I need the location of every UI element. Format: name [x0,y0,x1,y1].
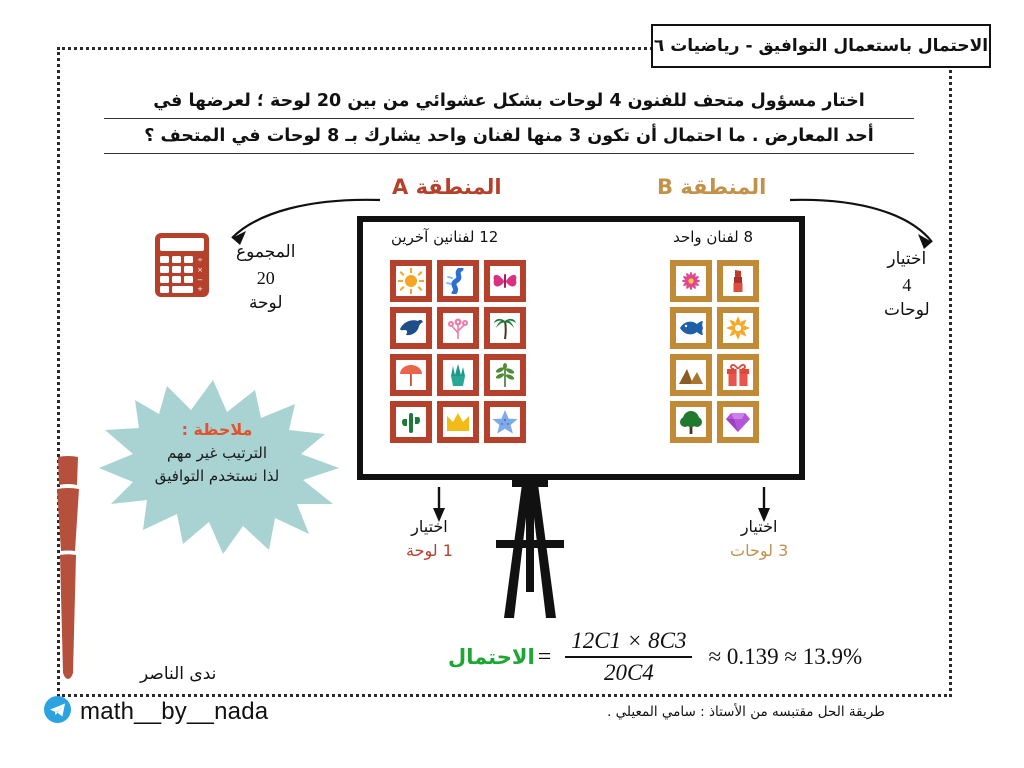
easel-icon [470,478,590,633]
choose-b-bottom: 3 لوحات [730,539,788,563]
page-title-box: الاحتمال باستعمال التوافيق - رياضيات ٦ [651,24,991,68]
region-a-column-2 [437,260,479,443]
painting-flowers-icon [437,307,479,349]
painting-fish-icon [670,307,712,349]
formula-fraction: 12C1 × 8C3 20C4 [565,628,692,686]
telegram-icon [44,696,71,728]
author-name-ar: ندى الناصر [140,664,216,684]
region-b-column-1 [670,260,712,443]
svg-text:×: × [197,266,203,274]
painting-agave-plant-icon [437,354,479,396]
choose-a-bottom: 1 لوحة [406,539,453,563]
note-line-2: لذا نستخدم التوافيق [122,465,312,488]
note-text: ملاحظة : الترتيب غير مهم لذا نستخدم التو… [122,418,312,487]
region-b-label: المنطقة B [657,175,766,199]
formula-result: ≈ 0.139 ≈ 13.9% [708,644,862,670]
choose-a-top: اختيار [406,515,453,539]
painting-fern-icon [484,354,526,396]
painting-lipstick-icon [717,260,759,302]
formula-denominator: 20C4 [598,658,660,686]
svg-text:+: + [197,285,203,293]
formula-equals: = [538,644,552,671]
annotation-choose-region-b: اختيار 3 لوحات [730,515,788,563]
region-b-column-2 [717,260,759,443]
region-a-label: المنطقة A [392,175,502,199]
painting-umbrella-icon [390,354,432,396]
painting-mountain-icon [670,354,712,396]
region-a-column-3 [484,260,526,443]
paintbrush-icon [48,455,88,685]
painting-crown-icon [437,401,479,443]
annotation-choose4-number: 4 [884,272,930,298]
annotation-total-line1: المجموع [236,240,295,265]
painting-diamond-icon [717,401,759,443]
painting-palm-tree-icon [484,307,526,349]
painting-butterfly-icon [484,260,526,302]
annotation-choose4-line3: لوحات [884,298,930,323]
question-block: اختار مسؤول متحف للفنون 4 لوحات بشكل عشو… [104,88,914,158]
annotation-choose4-line1: اختيار [884,247,930,272]
region-a-grid [390,260,526,443]
annotation-total: المجموع 20 لوحة [236,240,295,315]
painting-tree-icon [670,401,712,443]
annotation-total-number: 20 [236,265,295,291]
telegram-handle: math__by__nada [80,698,268,726]
annotation-choose-4: اختيار 4 لوحات [884,247,930,322]
svg-text:÷: ÷ [197,256,203,264]
painting-river-icon [437,260,479,302]
region-b-grid [670,260,759,443]
painting-sun-icon [390,260,432,302]
formula-label: الاحتمال [448,645,535,669]
calculator-icon: ÷× −+ [155,233,209,302]
gallery-board: 12 لفنانين آخرين 8 لفنان واحد [357,216,805,480]
board-caption-right: 8 لفنان واحد [673,228,753,246]
painting-daisy-icon [670,260,712,302]
telegram-handle-row[interactable]: math__by__nada [44,696,268,728]
annotation-total-line3: لوحة [236,291,295,316]
page-title: الاحتمال باستعمال التوافيق - رياضيات ٦ [654,36,988,56]
board-caption-left: 12 لفنانين آخرين [391,228,498,246]
formula-numerator: 12C1 × 8C3 [565,628,692,656]
painting-dolphin-icon [390,307,432,349]
svg-text:−: − [197,276,203,284]
note-line-1: الترتيب غير مهم [122,442,312,465]
note-heading: ملاحظة : [122,418,312,442]
source-credit: طريقة الحل مقتبسه من الأستاذ : سامي المع… [562,704,930,720]
question-line-1: اختار مسؤول متحف للفنون 4 لوحات بشكل عشو… [104,88,914,119]
painting-cactus-icon [390,401,432,443]
painting-sunburst-icon [717,307,759,349]
region-a-column-1 [390,260,432,443]
question-line-2: أحد المعارض . ما احتمال أن تكون 3 منها ل… [104,123,914,154]
worksheet-canvas: الاحتمال باستعمال التوافيق - رياضيات ٦ ا… [0,0,1024,768]
annotation-choose-region-a: اختيار 1 لوحة [406,515,453,563]
choose-b-top: اختيار [730,515,788,539]
painting-gift-icon [717,354,759,396]
painting-starfish-icon [484,401,526,443]
probability-formula: الاحتمال = 12C1 × 8C3 20C4 ≈ 0.139 ≈ 13.… [448,628,862,686]
